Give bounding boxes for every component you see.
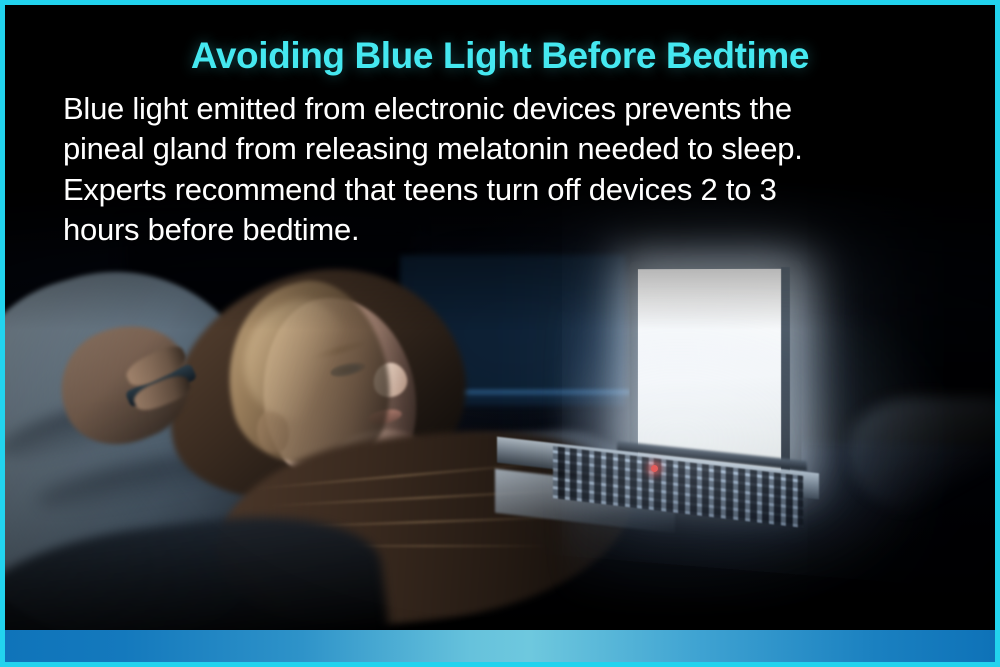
body-copy: Blue light emitted from electronic devic… bbox=[63, 89, 937, 250]
laptop-screen-edge bbox=[781, 267, 790, 472]
page-title: Avoiding Blue Light Before Bedtime bbox=[63, 36, 937, 76]
power-led-icon bbox=[651, 465, 658, 472]
body-line: Experts recommend that teens turn off de… bbox=[63, 170, 937, 210]
body-line: pineal gland from releasing melatonin ne… bbox=[63, 129, 937, 169]
bottom-accent-bar bbox=[5, 630, 995, 662]
text-overlay: Avoiding Blue Light Before Bedtime Blue … bbox=[5, 5, 995, 250]
infographic-card: Avoiding Blue Light Before Bedtime Blue … bbox=[0, 0, 1000, 667]
body-line: hours before bedtime. bbox=[63, 210, 937, 250]
laptop-screen bbox=[638, 269, 787, 471]
body-line: Blue light emitted from electronic devic… bbox=[63, 89, 937, 129]
